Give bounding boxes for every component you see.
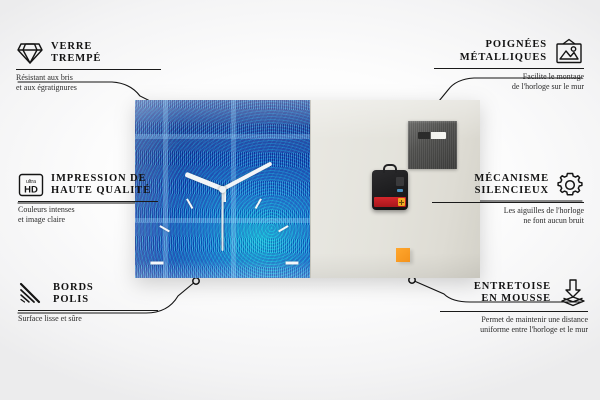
callout-rule: [434, 68, 584, 69]
second-hand: [222, 189, 224, 251]
ultra-hd-icon: ultra HD: [18, 172, 44, 198]
hour-marker: [254, 198, 261, 209]
callout-title: IMPRESSION DE HAUTE QUALITÉ: [51, 173, 151, 198]
ultra-hd-bottom-text: HD: [24, 185, 38, 196]
minute-hand: [222, 161, 272, 190]
foam-spacer-icon: [558, 278, 588, 308]
diamond-icon: [16, 40, 44, 66]
callout-title: BORDS POLIS: [53, 282, 94, 307]
callout-subtitle: Facilite le montage de l'horloge sur le …: [434, 72, 584, 92]
connector-dot-bords-polis: [193, 278, 199, 284]
callout-bords-polis: BORDS POLIS Surface lisse et sûre: [18, 281, 163, 324]
callout-rule: [18, 310, 158, 311]
callout-subtitle: Permet de maintenir une distance uniform…: [440, 315, 588, 335]
hour-marker: [186, 198, 193, 209]
callout-impression-haute-qualite: ultra HD IMPRESSION DE HAUTE QUALITÉ Cou…: [18, 172, 163, 225]
mechanism-dial: [397, 189, 403, 192]
hanger-plate: [408, 121, 457, 169]
callout-subtitle: Les aiguilles de l'horloge ne font aucun…: [432, 206, 584, 226]
picture-frame-icon: [554, 38, 584, 65]
callout-rule: [432, 202, 584, 203]
gear-icon: [556, 171, 584, 199]
hour-marker: [285, 262, 298, 265]
callout-mecanisme-silencieux: MÉCANISME SILENCIEUX Les aiguilles de l'…: [432, 171, 584, 226]
infographic-canvas: VERRE TREMPÉ Résistant aux bris et aux é…: [0, 0, 600, 400]
callout-subtitle: Résistant aux bris et aux égratignures: [16, 73, 166, 93]
callout-title: POIGNÉES MÉTALLIQUES: [460, 39, 547, 64]
callout-rule: [440, 311, 588, 312]
hour-marker: [159, 225, 170, 232]
callout-title: MÉCANISME SILENCIEUX: [474, 173, 549, 198]
callout-entretoise-en-mousse: ENTRETOISE EN MOUSSE Permet de maintenir…: [440, 278, 588, 335]
foam-spacer: [396, 248, 410, 262]
polished-edges-icon: [18, 281, 46, 307]
clock-mechanism: [372, 170, 408, 210]
clock-hub: [219, 186, 226, 193]
hour-hand: [184, 172, 223, 192]
product-image: [135, 100, 480, 278]
callout-title: ENTRETOISE EN MOUSSE: [474, 281, 551, 306]
callout-rule: [18, 201, 158, 202]
mechanism-hook: [383, 164, 397, 173]
battery: [374, 197, 406, 207]
battery-terminal: [398, 198, 405, 206]
hour-marker: [278, 225, 289, 232]
callout-subtitle: Surface lisse et sûre: [18, 314, 163, 324]
callout-title: VERRE TREMPÉ: [51, 41, 101, 66]
callout-subtitle: Couleurs intenses et image claire: [18, 205, 163, 225]
mechanism-housing-detail: [396, 177, 404, 186]
callout-poignees-metalliques: POIGNÉES MÉTALLIQUES Facilite le montage…: [434, 38, 584, 92]
hour-marker: [150, 262, 163, 265]
callout-verre-trempe: VERRE TREMPÉ Résistant aux bris et aux é…: [16, 40, 166, 93]
hanger-slot: [418, 132, 446, 139]
callout-rule: [16, 69, 161, 70]
